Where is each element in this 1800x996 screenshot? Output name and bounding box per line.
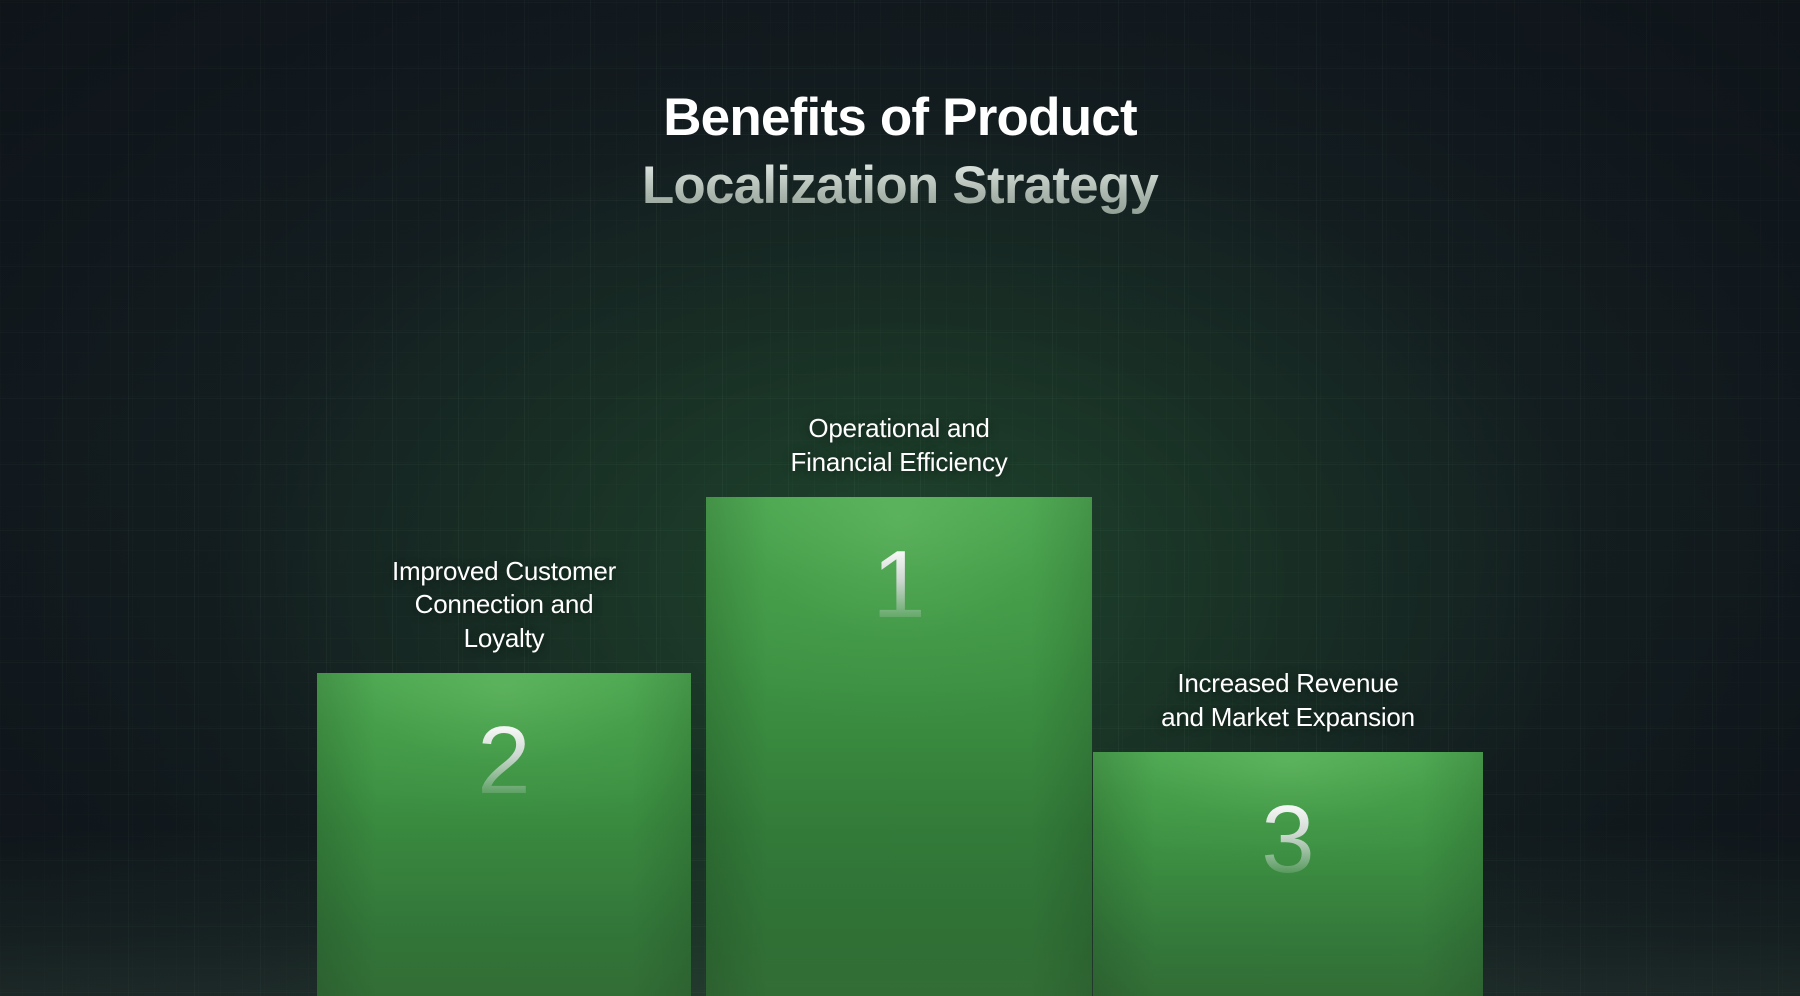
podium-label-rank-2: Improved Customer Connection and Loyalty: [314, 555, 694, 673]
podium-column-rank-3[interactable]: Increased Revenue and Market Expansion 3: [1093, 752, 1483, 996]
podium-bar-rank-2: 2: [317, 673, 691, 996]
podium-label-rank-3: Increased Revenue and Market Expansion: [1088, 667, 1488, 752]
podium-bar-rank-1: 1: [706, 497, 1092, 996]
podium-column-rank-1[interactable]: Operational and Financial Efficiency 1: [706, 497, 1092, 996]
podium-rank-number-1: 1: [706, 537, 1092, 633]
podium-label-rank-1: Operational and Financial Efficiency: [699, 412, 1099, 497]
page-title: Benefits of Product Localization Strateg…: [0, 86, 1800, 218]
title-line-primary: Benefits of Product: [0, 86, 1800, 151]
title-line-accent: Localization Strategy: [0, 154, 1800, 219]
podium-bar-rank-3: 3: [1093, 752, 1483, 996]
podium-rank-number-2: 2: [317, 713, 691, 809]
slide-canvas: Benefits of Product Localization Strateg…: [0, 0, 1800, 996]
podium-rank-number-3: 3: [1093, 792, 1483, 888]
podium-column-rank-2[interactable]: Improved Customer Connection and Loyalty…: [317, 673, 691, 996]
